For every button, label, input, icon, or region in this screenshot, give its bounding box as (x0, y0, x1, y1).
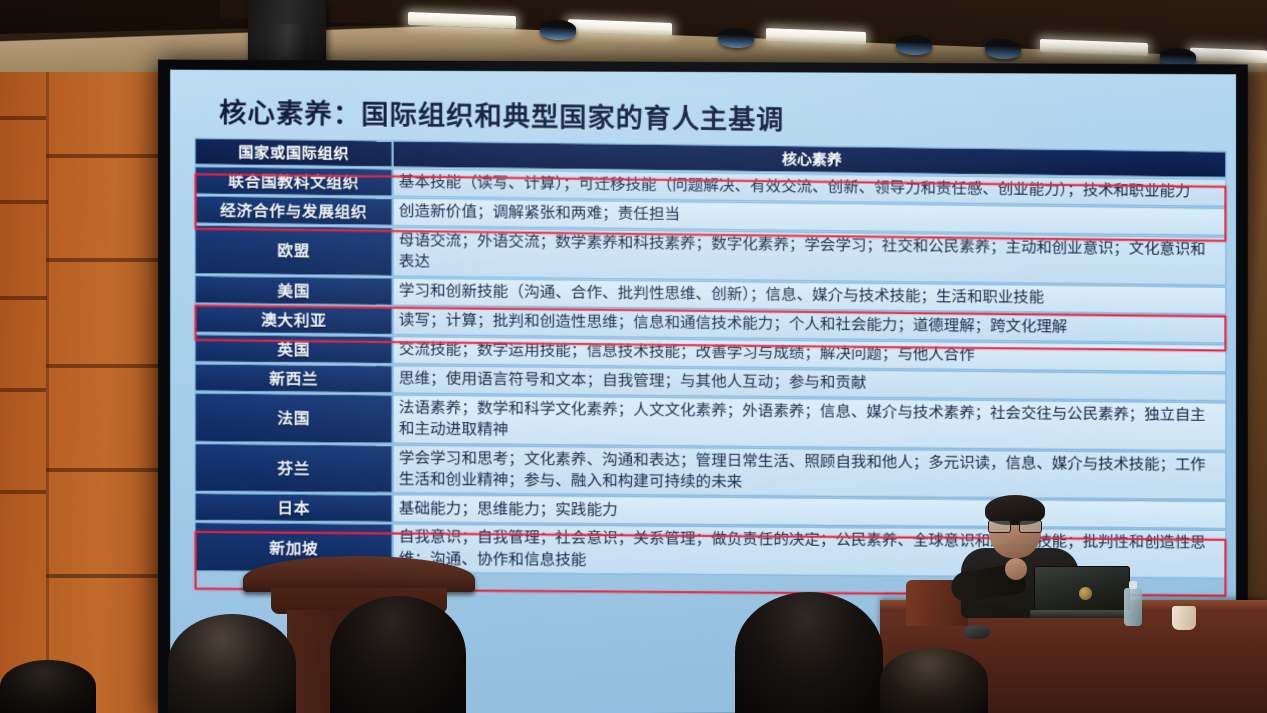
country-cell: 芬兰 (195, 443, 393, 494)
laptop-base (1030, 610, 1134, 618)
country-cell: 英国 (195, 334, 393, 364)
audience-head (735, 592, 883, 713)
country-cell: 美国 (195, 275, 393, 305)
ceiling-downlight-icon (718, 27, 754, 48)
country-cell: 法国 (195, 392, 393, 443)
audience-head (0, 660, 96, 713)
paper-cup (1172, 606, 1196, 630)
country-cell: 欧盟 (195, 225, 393, 276)
presenter-hand (1005, 558, 1027, 580)
table-row: 法国 法语素养；数学和科学文化素养；人文文化素养；外语素养；信息、媒介与技术素养… (195, 392, 1227, 450)
eyeglasses-icon (988, 520, 1042, 531)
country-cell: 经济合作与发展组织 (195, 195, 393, 226)
podium-top (243, 556, 475, 592)
laptop-logo-icon (1079, 587, 1092, 600)
presenter-laptop (1030, 566, 1134, 618)
ceiling-downlight-icon (985, 38, 1021, 59)
country-cell: 联合国教科文组织 (195, 166, 393, 197)
competency-cell: 学会学习和思考；文化素养、沟通和表达；管理日常生活、照顾自我和他人；多元识读，信… (393, 444, 1227, 500)
country-cell: 新西兰 (195, 363, 393, 393)
table-row: 芬兰 学会学习和思考；文化素养、沟通和表达；管理日常生活、照顾自我和他人；多元识… (195, 443, 1227, 501)
water-bottle (1124, 588, 1142, 626)
ceiling-downlight-icon (896, 34, 932, 55)
left-brick-wall (0, 58, 176, 713)
computer-mouse-icon (964, 625, 990, 639)
country-cell: 澳大利亚 (195, 304, 393, 334)
laptop-lid (1034, 566, 1130, 612)
header-country: 国家或国际组织 (195, 138, 393, 168)
audience-head (880, 648, 988, 713)
ceiling-downlight-icon (540, 19, 576, 40)
audience-head (168, 614, 296, 713)
competency-cell: 法语素养；数学和科学文化素养；人文文化素养；外语素养；信息、媒介与技术素养；社会… (393, 394, 1227, 450)
conference-room-photo: 核心素养：国际组织和典型国家的育人主基调 国家或国际组织 核心素养 联合国教科文… (0, 0, 1267, 713)
country-cell: 日本 (195, 493, 393, 523)
competency-cell: 母语交流；外语交流；数学素养和科技素养；数字化素养；学会学习；社交和公民素养；主… (393, 227, 1227, 285)
slide-title: 核心素养：国际组织和典型国家的育人主基调 (219, 91, 784, 138)
audience-head (330, 596, 466, 713)
